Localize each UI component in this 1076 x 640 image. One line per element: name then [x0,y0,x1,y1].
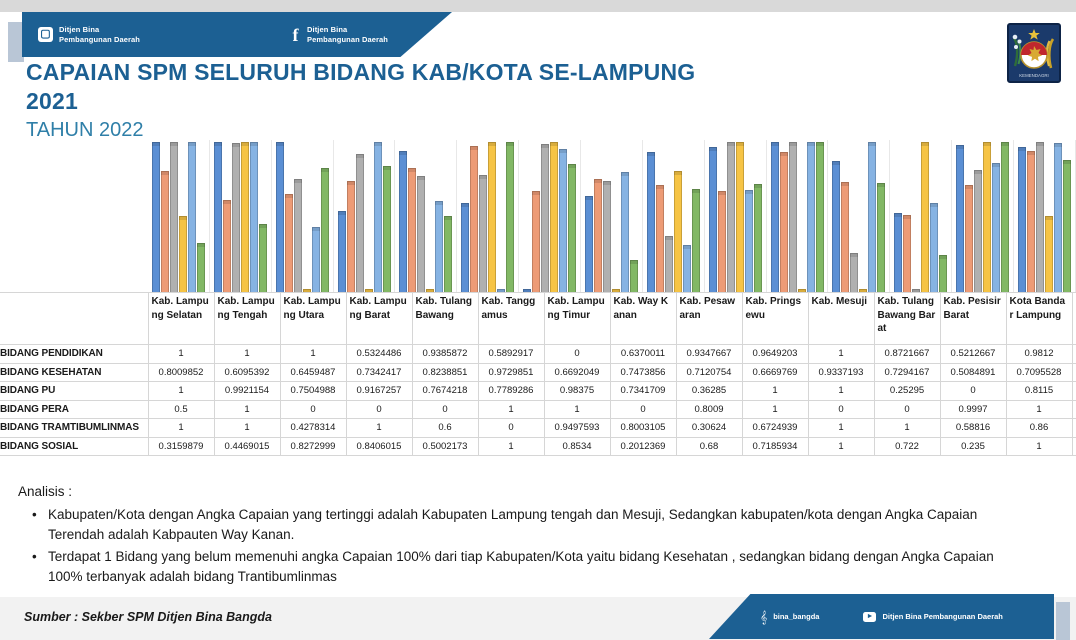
table-cell: 1 [148,419,214,438]
chart-bar [356,156,364,292]
chart-category-group [1014,140,1076,292]
chart-bar [152,144,160,292]
chart-bar [383,168,391,292]
table-column-header: Kab. Mesuji [808,293,874,345]
table-row: BIDANG PU10.99211540.75049880.91672570.7… [0,382,1076,401]
banner-side-accent [8,22,24,62]
table-cell: 1 [214,345,280,364]
table-cell: 0.722 [874,437,940,456]
chart-bar [956,147,964,292]
table-cell: 0.996491 [1072,419,1076,438]
table-cell: 0.9337193 [808,363,874,382]
chart-bar [321,170,329,292]
table-cell: 0.2012369 [610,437,676,456]
table-cell: 0.9167257 [346,382,412,401]
chart-bar [338,213,346,292]
table-cell: 0.7473856 [610,363,676,382]
analysis-list: • Kabupaten/Kota dengan Angka Capaian ya… [18,505,1018,588]
table-cell: 1 [742,400,808,419]
chart-bar [479,177,487,292]
facebook-line2: Pembangunan Daerah [307,35,388,44]
table-cell: 1 [808,419,874,438]
youtube-icon: ► [863,612,876,622]
chart-bar [179,218,187,292]
youtube-handle[interactable]: ► Ditjen Bina Pembangunan Daerah [863,612,1002,622]
table-corner-cell [0,293,148,345]
list-item: • Kabupaten/Kota dengan Angka Capaian ya… [18,505,1018,546]
table-column-header: Kab. Way Kanan [610,293,676,345]
table-cell: 0 [346,400,412,419]
table-cell: 0.36285 [676,382,742,401]
table-row-header: BIDANG PERA [0,400,148,419]
table-cell: 0.4469015 [214,437,280,456]
table-cell: 0.7789286 [478,382,544,401]
table-row-header: BIDANG TRAMTIBUMLINMAS [0,419,148,438]
table-cell: 1 [1072,382,1076,401]
instagram-line1: Ditjen Bina [59,25,99,34]
chart-bar [1045,218,1053,292]
chart-bar [621,174,629,292]
chart-bar [877,185,885,292]
chart-bar [374,144,382,292]
table-cell: 1 [874,419,940,438]
table-cell: 0.938095 [1072,363,1076,382]
table-column-header: Kab. Tulang Bawang [412,293,478,345]
analysis-item-text: Terdapat 1 Bidang yang belum memenuhi an… [48,549,994,585]
facebook-line1: Ditjen Bina [307,25,347,34]
table-cell: 0.25295 [874,382,940,401]
table-column-header: Kab. Pesisir Barat [940,293,1006,345]
chart-category-group [272,140,334,292]
table-cell: 1 [1006,400,1072,419]
spm-data-table-wrap: Kab. Lampung SelatanKab. Lampung TengahK… [0,292,1076,456]
table-column-header: Kota Metro [1072,293,1076,345]
table-cell: 0.7095528 [1006,363,1072,382]
table-cell: 0.5002173 [412,437,478,456]
chart-category-group [210,140,272,292]
table-cell: 0 [808,400,874,419]
chart-bar [630,262,638,292]
footer-source: Sumber : Sekber SPM Ditjen Bina Bangda [24,610,272,624]
table-column-header: Kab. Lampung Timur [544,293,610,345]
footer: Sumber : Sekber SPM Ditjen Bina Bangda 𝄞… [0,592,1076,640]
chart-bar [921,144,929,292]
chart-bar [435,203,443,292]
chart-category-group [643,140,705,292]
chart-bar [771,144,779,292]
table-cell: 0.7342417 [346,363,412,382]
chart-bar [1054,145,1062,292]
instagram-handle-text: Ditjen Bina Pembangunan Daerah [59,25,140,44]
chart-bar [250,144,258,292]
table-cell: 0.6669769 [742,363,808,382]
table-row: BIDANG PENDIDIKAN1110.53244860.93858720.… [0,345,1076,364]
table-row-header: BIDANG KESEHATAN [0,363,148,382]
page-title: CAPAIAN SPM SELURUH BIDANG KAB/KOTA SE-L… [26,58,726,117]
table-cell: 0.5084891 [940,363,1006,382]
table-cell: 1 [148,345,214,364]
table-cell: 0.8534 [544,437,610,456]
table-cell: 0.9497593 [544,419,610,438]
facebook-handle-text: Ditjen Bina Pembangunan Daerah [307,25,388,44]
chart-bar [868,144,876,292]
chart-bar [170,144,178,292]
chart-bar [568,166,576,292]
table-cell: 0.7341709 [610,382,676,401]
table-column-header: Kab. Tulang Bawang Barat [874,293,940,345]
table-cell: 0.7674218 [412,382,478,401]
chart-category-group [828,140,890,292]
table-cell: 0 [280,400,346,419]
table-cell: 0.9921154 [214,382,280,401]
chart-bar [461,205,469,292]
chart-bar [894,215,902,292]
table-cell: 0.8238851 [412,363,478,382]
table-cell: 0.880827 [1072,437,1076,456]
chart-bar [983,144,991,292]
table-cell: 0.7120754 [676,363,742,382]
chart-bar [789,144,797,292]
header-social-banner: ▢ Ditjen Bina Pembangunan Daerah f Ditje… [22,12,452,57]
chart-bar [470,148,478,292]
table-column-header: Kab. Lampung Selatan [148,293,214,345]
table-column-header: Kab. Lampung Utara [280,293,346,345]
table-cell: 0.9729851 [478,363,544,382]
chart-bar [1036,144,1044,292]
chart-bar [647,154,655,292]
instagram-handle[interactable]: ▢ Ditjen Bina Pembangunan Daerah [38,25,140,44]
chart-bar [965,187,973,292]
table-row: BIDANG PERA0.510001100.80091000.999710.5 [0,400,1076,419]
twitter-icon: 𝄞 [760,611,767,623]
table-cell: 0.68 [676,437,742,456]
chart-bar [585,198,593,292]
chart-bar [241,144,249,292]
top-strip [0,0,1076,12]
garuda-kemendagri-logo-icon: KEMENDAGRI [1006,22,1062,84]
spm-bar-chart [148,140,1076,292]
twitter-handle[interactable]: 𝄞 bina_bangda [760,611,819,623]
table-cell: 0 [478,419,544,438]
bullet-icon: • [32,505,37,526]
table-row: BIDANG TRAMTIBUMLINMAS110.427831410.600.… [0,419,1076,438]
table-cell: 1 [808,345,874,364]
table-cell: 0.6459487 [280,363,346,382]
analysis-item-text: Kabupaten/Kota dengan Angka Capaian yang… [48,507,977,543]
chart-bar [745,192,753,292]
table-cell: 0.9812 [1006,345,1072,364]
table-cell: 0 [610,400,676,419]
chart-bar [939,257,947,292]
table-cell: 0.7185934 [742,437,808,456]
table-cell: 0.969095 [1072,345,1076,364]
table-row-header: BIDANG PU [0,382,148,401]
chart-category-group [395,140,457,292]
table-row-header: BIDANG PENDIDIKAN [0,345,148,364]
table-cell: 0.7504988 [280,382,346,401]
table-column-header: Kab. Pringsewu [742,293,808,345]
table-cell: 0.4278314 [280,419,346,438]
chart-bar [665,238,673,292]
chart-category-group [705,140,767,292]
spm-data-table: Kab. Lampung SelatanKab. Lampung TengahK… [0,292,1076,456]
table-cell: 0.5212667 [940,345,1006,364]
table-row: BIDANG KESEHATAN0.80098520.60953920.6459… [0,363,1076,382]
table-header: Kab. Lampung SelatanKab. Lampung TengahK… [0,293,1076,345]
chart-bar [506,144,514,292]
chart-bar [399,153,407,292]
table-cell: 0.6724939 [742,419,808,438]
table-cell: 0.6692049 [544,363,610,382]
youtube-handle-text: Ditjen Bina Pembangunan Daerah [882,612,1002,621]
table-column-header: Kab. Pesawaran [676,293,742,345]
table-cell: 1 [148,382,214,401]
table-cell: 0 [412,400,478,419]
chart-bar [532,193,540,292]
table-cell: 0.8406015 [346,437,412,456]
chart-bar [832,163,840,292]
chart-bar [276,144,284,292]
chart-category-group [519,140,581,292]
table-cell: 0.9385872 [412,345,478,364]
table-cell: 1 [478,400,544,419]
table-cell: 0.8721667 [874,345,940,364]
chart-bar [683,247,691,292]
table-cell: 0.8272999 [280,437,346,456]
twitter-handle-text: bina_bangda [773,612,819,621]
chart-category-group [952,140,1014,292]
table-cell: 1 [280,345,346,364]
table-cell: 0.6 [412,419,478,438]
chart-bar [656,187,664,292]
chart-bar [974,172,982,292]
chart-bar [259,226,267,292]
svg-text:KEMENDAGRI: KEMENDAGRI [1019,73,1049,78]
chart-bar [188,144,196,292]
table-cell: 0.3159879 [148,437,214,456]
chart-bar [312,229,320,292]
table-column-header: Kota Bandar Lampung [1006,293,1072,345]
chart-bar [347,183,355,292]
chart-category-group [890,140,952,292]
table-cell: 1 [214,400,280,419]
page-subtitle: TAHUN 2022 [26,118,143,142]
chart-bar [736,144,744,292]
table-cell: 0 [874,400,940,419]
chart-bar [1001,144,1009,292]
footer-social-banner: 𝄞 bina_bangda ► Ditjen Bina Pembangunan … [709,594,1054,639]
chart-bar [850,255,858,292]
chart-bar [992,165,1000,292]
instagram-icon: ▢ [38,27,53,42]
facebook-handle[interactable]: f Ditjen Bina Pembangunan Daerah [290,25,388,44]
table-cell: 0.5892917 [478,345,544,364]
table-cell: 1 [478,437,544,456]
table-cell: 0.8003105 [610,419,676,438]
table-cell: 0.9997 [940,400,1006,419]
chart-category-group [457,140,519,292]
table-column-header: Kab. Tanggamus [478,293,544,345]
chart-bar [294,181,302,292]
table-cell: 1 [1006,437,1072,456]
instagram-line2: Pembangunan Daerah [59,35,140,44]
chart-bar [541,146,549,292]
table-cell: 1 [214,419,280,438]
chart-category-group [334,140,396,292]
table-cell: 0.86 [1006,419,1072,438]
table-cell: 0 [940,382,1006,401]
chart-bar [816,144,824,292]
table-body: BIDANG PENDIDIKAN1110.53244860.93858720.… [0,345,1076,456]
table-cell: 0.5324486 [346,345,412,364]
chart-bar [488,144,496,292]
analysis-section: Analisis : • Kabupaten/Kota dengan Angka… [18,482,1018,589]
chart-bar [727,144,735,292]
table-cell: 0.6095392 [214,363,280,382]
chart-bar [408,170,416,292]
table-cell: 0.9347667 [676,345,742,364]
table-cell: 0.8009 [676,400,742,419]
table-column-header: Kab. Lampung Barat [346,293,412,345]
list-item: • Terdapat 1 Bidang yang belum memenuhi … [18,547,1018,588]
chart-bar [232,145,240,292]
table-cell: 0.58816 [940,419,1006,438]
table-cell: 0.98375 [544,382,610,401]
chart-category-group [767,140,829,292]
chart-bar [197,245,205,292]
footer-tail-accent [1056,602,1070,640]
table-cell: 1 [808,437,874,456]
chart-bar [550,144,558,292]
table-cell: 1 [742,382,808,401]
table-cell: 0.8009852 [148,363,214,382]
table-cell: 0.6370011 [610,345,676,364]
table-cell: 1 [808,382,874,401]
chart-bar [1063,162,1071,292]
table-cell: 0.235 [940,437,1006,456]
chart-bar [214,144,222,292]
chart-bar [559,151,567,292]
table-cell: 0.7294167 [874,363,940,382]
table-row-header: BIDANG SOSIAL [0,437,148,456]
bullet-icon: • [32,547,37,568]
chart-bar [930,205,938,292]
chart-bar [161,173,169,292]
table-cell: 0.5 [1072,400,1076,419]
chart-bar [603,183,611,292]
chart-bar [780,154,788,292]
analysis-heading: Analisis : [18,482,1018,503]
chart-bar [903,217,911,292]
chart-bar [1027,153,1035,292]
table-row: BIDANG SOSIAL0.31598790.44690150.8272999… [0,437,1076,456]
chart-bar [807,144,815,292]
chart-bar [285,196,293,292]
table-cell: 0.5 [148,400,214,419]
table-cell: 0.8115 [1006,382,1072,401]
chart-bar [1018,149,1026,292]
chart-bar [594,181,602,292]
chart-bar [718,193,726,292]
facebook-icon: f [290,27,301,42]
chart-bar [841,184,849,292]
chart-bar [444,218,452,292]
chart-category-group [581,140,643,292]
chart-bar [754,186,762,292]
table-cell: 0.30624 [676,419,742,438]
chart-bar [417,178,425,292]
table-column-header: Kab. Lampung Tengah [214,293,280,345]
table-cell: 1 [544,400,610,419]
table-cell: 0.9649203 [742,345,808,364]
chart-bar [674,173,682,292]
table-cell: 1 [346,419,412,438]
chart-bar [692,191,700,292]
table-cell: 0 [544,345,610,364]
chart-category-group [148,140,210,292]
chart-bar [223,202,231,292]
chart-bar [709,149,717,292]
